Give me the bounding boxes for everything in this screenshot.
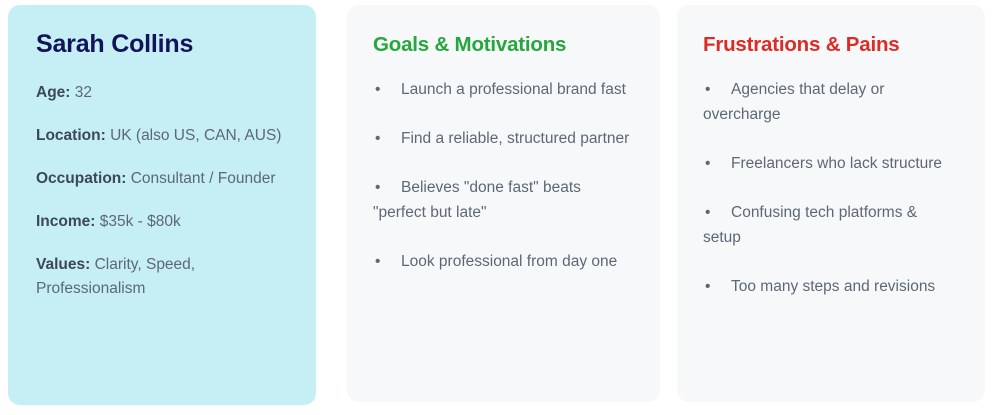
list-item-label: Too many steps and revisions — [731, 278, 935, 295]
profile-row-age: Age: 32 — [36, 81, 288, 105]
profile-label-occupation: Occupation: — [36, 170, 126, 187]
list-item: • Confusing tech platforms & setup — [703, 200, 959, 250]
frustrations-list: • Agencies that delay or overcharge • Fr… — [703, 77, 959, 300]
list-item: • Believes "done fast" beats "perfect bu… — [373, 175, 634, 225]
frustrations-card-heading: Frustrations & Pains — [703, 33, 959, 57]
profile-row-occupation: Occupation: Consultant / Founder — [36, 167, 288, 191]
list-item: • Too many steps and revisions — [703, 274, 959, 299]
persona-board: Sarah Collins Age: 32 Location: UK (also… — [0, 0, 1000, 415]
profile-value-location: UK (also US, CAN, AUS) — [110, 127, 281, 144]
list-item-label: Look professional from day one — [401, 253, 617, 270]
bullet-icon: • — [375, 77, 389, 102]
list-item: • Launch a professional brand fast — [373, 77, 634, 102]
list-item-label: Agencies that delay or overcharge — [703, 81, 884, 123]
list-item-label: Find a reliable, structured partner — [401, 130, 629, 147]
profile-row-income: Income: $35k - $80k — [36, 210, 288, 234]
profile-label-income: Income: — [36, 213, 95, 230]
frustrations-card: Frustrations & Pains • Agencies that del… — [677, 5, 985, 402]
profile-value-age: 32 — [75, 84, 92, 101]
bullet-icon: • — [375, 249, 389, 274]
persona-profile-card: Sarah Collins Age: 32 Location: UK (also… — [8, 5, 316, 405]
profile-row-location: Location: UK (also US, CAN, AUS) — [36, 124, 288, 148]
list-item-label: Believes "done fast" beats "perfect but … — [373, 179, 581, 221]
bullet-icon: • — [705, 151, 719, 176]
list-item: • Agencies that delay or overcharge — [703, 77, 959, 127]
bullet-icon: • — [375, 126, 389, 151]
profile-row-values: Values: Clarity, Speed, Professionalism — [36, 253, 288, 301]
list-item-label: Confusing tech platforms & setup — [703, 204, 917, 246]
list-item: • Find a reliable, structured partner — [373, 126, 634, 151]
bullet-icon: • — [705, 77, 719, 102]
list-item: • Freelancers who lack structure — [703, 151, 959, 176]
profile-label-location: Location: — [36, 127, 106, 144]
list-item-label: Freelancers who lack structure — [731, 155, 942, 172]
profile-value-occupation: Consultant / Founder — [131, 170, 276, 187]
profile-label-values: Values: — [36, 256, 90, 273]
profile-label-age: Age: — [36, 84, 70, 101]
persona-name: Sarah Collins — [36, 31, 288, 59]
goals-card: Goals & Motivations • Launch a professio… — [347, 5, 660, 402]
bullet-icon: • — [375, 175, 389, 200]
list-item-label: Launch a professional brand fast — [401, 81, 626, 98]
goals-list: • Launch a professional brand fast • Fin… — [373, 77, 634, 275]
bullet-icon: • — [705, 200, 719, 225]
goals-card-heading: Goals & Motivations — [373, 33, 634, 57]
bullet-icon: • — [705, 274, 719, 299]
list-item: • Look professional from day one — [373, 249, 634, 274]
profile-value-income: $35k - $80k — [100, 213, 181, 230]
